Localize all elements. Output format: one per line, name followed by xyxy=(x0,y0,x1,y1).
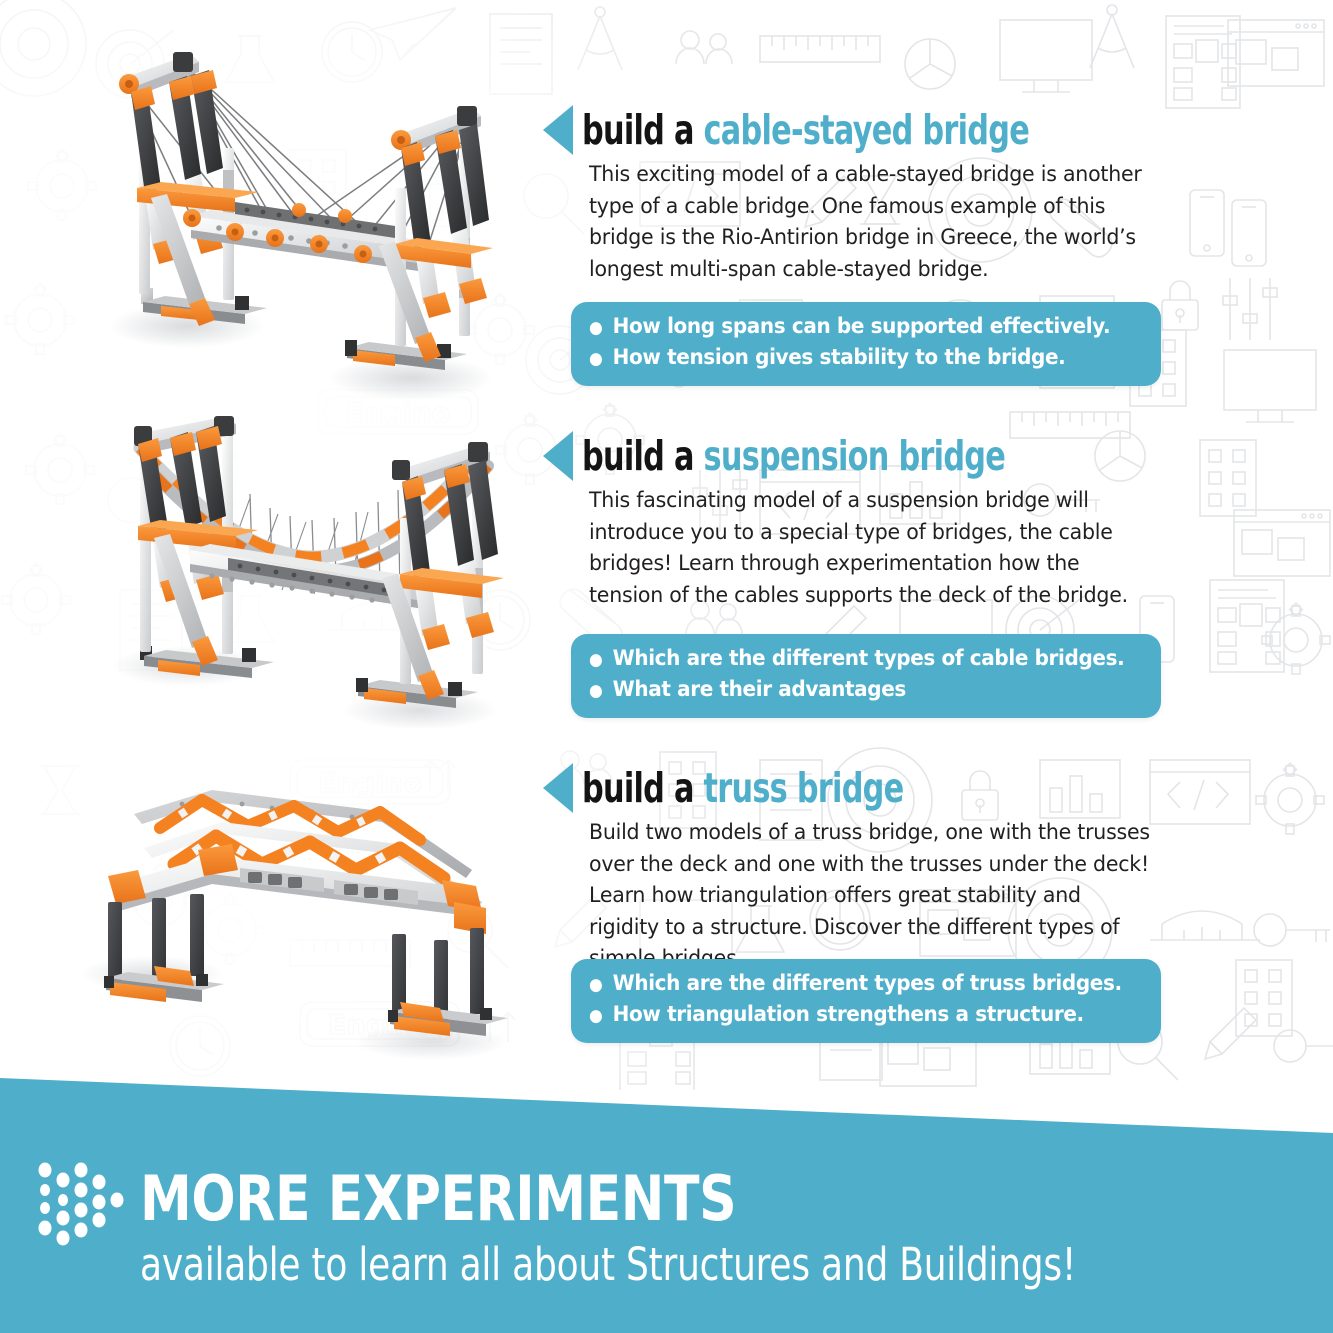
triangle-left-icon xyxy=(543,105,573,155)
list-item-label: How triangulation strengthens a structur… xyxy=(613,1000,1084,1030)
banner-subtitle: available to learn all about Structures … xyxy=(140,1240,1076,1290)
triangle-left-icon xyxy=(543,763,573,813)
list-item-label: What are their advantages xyxy=(613,675,906,705)
bullet-dot-icon: ● xyxy=(589,344,602,374)
cable-stayed-bridge-model-image xyxy=(95,48,515,400)
list-item: ● How triangulation strengthens a struct… xyxy=(589,1000,1104,1031)
heading-line: build a suspension bridge xyxy=(582,434,1005,478)
section-suspension-bridge: build a suspension bridge This fascinati… xyxy=(543,430,1183,611)
section-body-text: Build two models of a truss bridge, one … xyxy=(589,817,1156,975)
section-heading: build a truss bridge xyxy=(543,762,1183,814)
dot-chevron-logo-icon xyxy=(36,1156,138,1252)
heading-prefix: build a xyxy=(582,106,694,154)
bullet-dot-icon: ● xyxy=(589,645,602,675)
section-body-text: This fascinating model of a suspension b… xyxy=(589,485,1156,611)
heading-line: build a truss bridge xyxy=(582,766,903,810)
bullet-dot-icon: ● xyxy=(589,676,602,706)
list-item-label: Which are the different types of cable b… xyxy=(613,644,1125,674)
heading-prefix: build a xyxy=(582,432,694,480)
section-truss-bridge: build a truss bridge Build two models of… xyxy=(543,762,1183,975)
list-item-label: How tension gives stability to the bridg… xyxy=(613,343,1066,373)
page-root: Engino xyxy=(0,0,1333,1333)
learning-points-box-cable-stayed: ● How long spans can be supported effect… xyxy=(571,302,1161,386)
list-item: ● Which are the different types of truss… xyxy=(589,969,1104,1000)
heading-prefix: build a xyxy=(582,764,694,812)
bullet-dot-icon: ● xyxy=(589,1001,602,1031)
section-cable-stayed-bridge: build a cable-stayed bridge This excitin… xyxy=(543,104,1183,285)
section-body-text: This exciting model of a cable-stayed br… xyxy=(589,159,1156,285)
list-item: ● How tension gives stability to the bri… xyxy=(589,343,1104,374)
list-item: ● What are their advantages xyxy=(589,675,1104,706)
list-item: ● How long spans can be supported effect… xyxy=(589,312,1104,343)
learning-points-box-truss: ● Which are the different types of truss… xyxy=(571,959,1161,1043)
suspension-bridge-model-image xyxy=(100,398,525,728)
list-item-label: Which are the different types of truss b… xyxy=(613,969,1122,999)
banner-title: MORE EXPERIMENTS xyxy=(140,1166,736,1232)
heading-highlight: truss bridge xyxy=(704,764,904,812)
learning-points-box-suspension: ● Which are the different types of cable… xyxy=(571,634,1161,718)
triangle-left-icon xyxy=(543,431,573,481)
bullet-dot-icon: ● xyxy=(589,313,602,343)
section-heading: build a cable-stayed bridge xyxy=(543,104,1183,156)
list-item: ● Which are the different types of cable… xyxy=(589,644,1104,675)
bullet-dot-icon: ● xyxy=(589,970,602,1000)
heading-highlight: cable-stayed bridge xyxy=(704,106,1030,154)
section-heading: build a suspension bridge xyxy=(543,430,1183,482)
heading-line: build a cable-stayed bridge xyxy=(582,108,1029,152)
heading-highlight: suspension bridge xyxy=(704,432,1006,480)
list-item-label: How long spans can be supported effectiv… xyxy=(613,312,1111,342)
truss-bridge-model-image xyxy=(62,752,527,1062)
